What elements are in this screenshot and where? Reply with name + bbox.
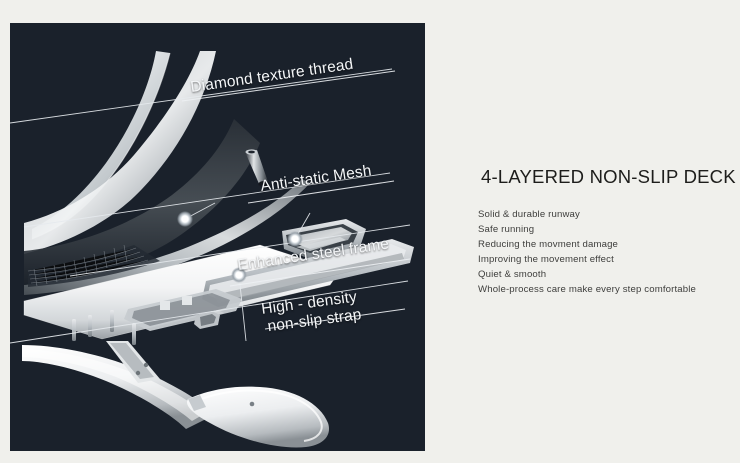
- list-item: Reducing the movment damage: [478, 237, 730, 252]
- list-item: Safe running: [478, 222, 730, 237]
- list-item: Whole-process care make every step comfo…: [478, 282, 730, 297]
- list-item: Improving the movement effect: [478, 252, 730, 267]
- list-item: Solid & durable runway: [478, 207, 730, 222]
- list-item: Quiet & smooth: [478, 267, 730, 282]
- product-feature-page: Diamond texture thread Anti-static Mesh …: [0, 0, 740, 463]
- product-image-panel: Diamond texture thread Anti-static Mesh …: [10, 23, 425, 451]
- feature-info-column: 4-LAYERED NON-SLIP DECK Solid & durable …: [478, 166, 730, 298]
- feature-list: Solid & durable runway Safe running Redu…: [478, 207, 730, 298]
- page-title: 4-LAYERED NON-SLIP DECK: [481, 166, 730, 188]
